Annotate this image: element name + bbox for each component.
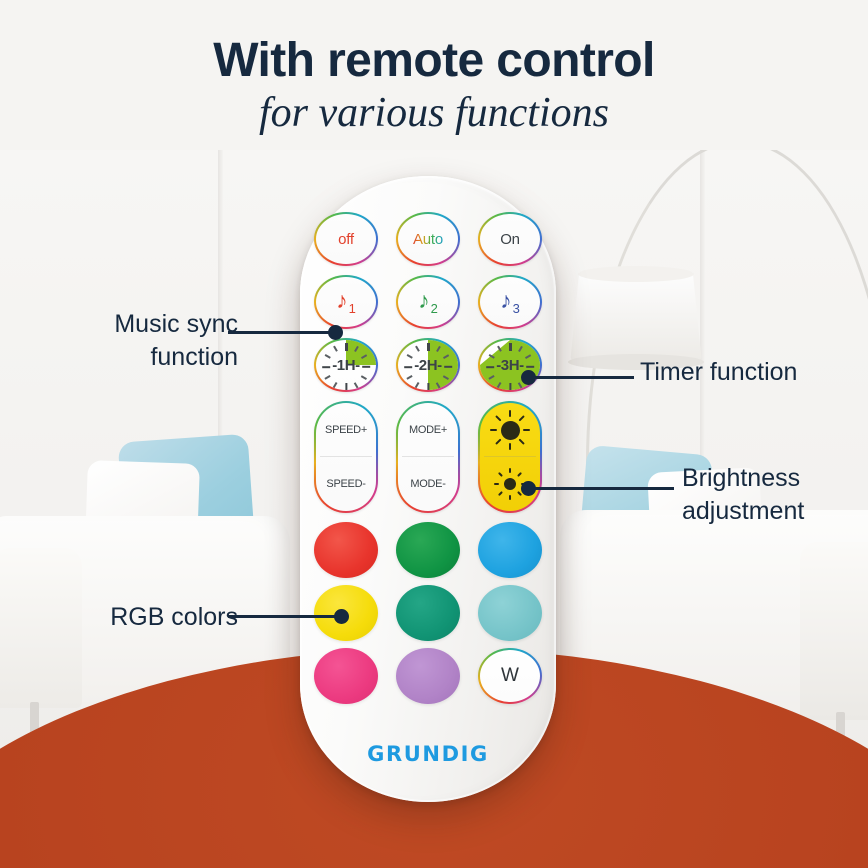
timer-1h-button[interactable]: -1H- — [314, 338, 378, 392]
color-red[interactable] — [314, 522, 378, 578]
color-white[interactable]: W — [478, 648, 542, 704]
mode-down-button[interactable]: MODE- — [398, 457, 458, 511]
clock-tick — [333, 346, 337, 352]
speed-up-button[interactable]: SPEED+ — [316, 403, 376, 457]
clock-tick — [333, 382, 337, 388]
music-note-icon: ♪3 — [500, 289, 520, 316]
color-blue[interactable] — [478, 522, 542, 578]
music-note-icon: ♪2 — [418, 289, 438, 316]
clock-tick — [407, 375, 413, 379]
clock-tick — [427, 383, 429, 391]
leader-dot — [334, 609, 349, 624]
leader-line-brightness — [528, 487, 674, 490]
clock-tick — [361, 375, 367, 379]
clock-tick — [354, 382, 358, 388]
color-row-1 — [314, 522, 542, 578]
lamp-shade — [570, 272, 702, 364]
power-button-row: off Auto On — [314, 212, 542, 266]
clock-tick — [444, 366, 452, 368]
clock-tick — [407, 354, 413, 358]
music-note-icon: ♪1 — [336, 289, 356, 316]
color-lilac[interactable] — [396, 648, 460, 704]
clock-tick — [509, 383, 511, 391]
brightness-up-button[interactable] — [480, 403, 540, 457]
on-button[interactable]: On — [478, 212, 542, 266]
color-teal[interactable] — [396, 585, 460, 641]
callout-brightness-line-1: Brightness — [682, 462, 868, 495]
pill-row: SPEED+ SPEED- MODE+ MODE- — [314, 401, 542, 513]
lamp-shade-top — [578, 266, 694, 282]
remote-button-grid: off Auto On ♪1 ♪2 ♪3 — [314, 212, 542, 711]
timer-2h-button[interactable]: -2H- — [396, 338, 460, 392]
leader-line-music — [228, 331, 336, 334]
leader-dot — [521, 481, 536, 496]
music-sync-2-button[interactable]: ♪2 — [396, 275, 460, 329]
page-title: With remote control for various function… — [0, 36, 868, 138]
music-sync-row: ♪1 ♪2 ♪3 — [314, 275, 542, 329]
callout-rgb-line-1: RGB colors — [26, 601, 238, 634]
color-row-3: W — [314, 648, 542, 704]
leader-line-timer — [528, 376, 634, 379]
remote-control: off Auto On ♪1 ♪2 ♪3 — [300, 176, 556, 802]
clock-tick — [345, 343, 347, 351]
clock-tick — [486, 366, 494, 368]
clock-tick — [325, 354, 331, 358]
music-sync-3-button[interactable]: ♪3 — [478, 275, 542, 329]
auto-button[interactable]: Auto — [396, 212, 460, 266]
mode-up-button[interactable]: MODE+ — [398, 403, 458, 457]
leader-line-rgb — [228, 615, 342, 618]
clock-tick — [509, 343, 511, 351]
music-sync-1-button[interactable]: ♪1 — [314, 275, 378, 329]
headline-line-2: for various functions — [0, 89, 868, 139]
clock-tick — [325, 375, 331, 379]
sofa-right-arm — [800, 542, 868, 720]
clock-tick — [322, 366, 330, 368]
callout-music-line-2: function — [26, 341, 238, 374]
color-green[interactable] — [396, 522, 460, 578]
callout-brightness: Brightness adjustment — [682, 462, 868, 528]
clock-tick — [415, 382, 419, 388]
callout-timer: Timer function — [640, 356, 860, 389]
clock-tick — [526, 366, 534, 368]
off-button[interactable]: off — [314, 212, 378, 266]
color-light-teal[interactable] — [478, 585, 542, 641]
callout-rgb: RGB colors — [26, 601, 238, 634]
clock-tick — [427, 343, 429, 351]
speed-down-button[interactable]: SPEED- — [316, 457, 376, 511]
timer-row: -1H- -2H- — [314, 338, 542, 392]
infographic-stage: With remote control for various function… — [0, 0, 868, 868]
mode-pill: MODE+ MODE- — [396, 401, 460, 513]
headline-line-1: With remote control — [0, 36, 868, 87]
callout-music-line-1: Music sync — [26, 308, 238, 341]
clock-tick — [404, 366, 412, 368]
brightness-pill — [478, 401, 542, 513]
leader-dot — [328, 325, 343, 340]
brand-logo: GRUNDIG — [300, 742, 556, 766]
color-pink[interactable] — [314, 648, 378, 704]
callout-timer-line-1: Timer function — [640, 356, 860, 389]
clock-tick — [345, 383, 347, 391]
clock-tick — [362, 366, 370, 368]
speed-pill: SPEED+ SPEED- — [314, 401, 378, 513]
callout-brightness-line-2: adjustment — [682, 495, 868, 528]
brightness-up-icon — [490, 410, 530, 450]
clock-tick — [415, 346, 419, 352]
callout-music-sync: Music sync function — [26, 308, 238, 374]
